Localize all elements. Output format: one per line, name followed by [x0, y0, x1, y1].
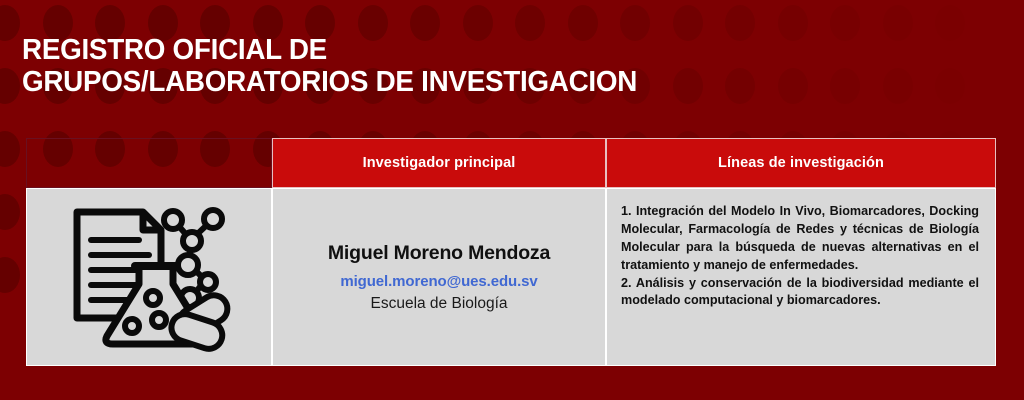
- decorative-dot: [935, 5, 965, 41]
- decorative-dot: [830, 5, 860, 41]
- table-cell-icon: [26, 188, 272, 366]
- decorative-dot: [883, 68, 913, 104]
- research-document-flask-molecule-pills-icon: [65, 202, 233, 352]
- table-row: Miguel Moreno Mendoza miguel.moreno@ues.…: [26, 188, 996, 366]
- table-cell-lineas: 1. Integración del Modelo In Vivo, Bioma…: [606, 188, 996, 366]
- decorative-dot: [0, 194, 20, 230]
- decorative-dot: [0, 257, 20, 293]
- researcher-name: Miguel Moreno Mendoza: [328, 242, 550, 265]
- table-cell-investigador: Miguel Moreno Mendoza miguel.moreno@ues.…: [272, 188, 606, 366]
- researcher-school: Escuela de Biología: [370, 295, 507, 313]
- decorative-dot: [0, 68, 20, 104]
- page-title: REGISTRO OFICIAL DE GRUPOS/LABORATORIOS …: [22, 34, 802, 99]
- research-line-item: 2. Análisis y conservación de la biodive…: [621, 275, 979, 311]
- researcher-email[interactable]: miguel.moreno@ues.edu.sv: [340, 273, 537, 290]
- decorative-dot: [883, 5, 913, 41]
- decorative-dot: [0, 131, 20, 167]
- decorative-dot: [830, 68, 860, 104]
- page-title-line-2: GRUPOS/LABORATORIOS DE INVESTIGACION: [22, 66, 771, 98]
- research-line-item: 1. Integración del Modelo In Vivo, Bioma…: [621, 203, 979, 275]
- decorative-dot: [0, 5, 20, 41]
- registry-table: Investigador principal Líneas de investi…: [26, 138, 996, 366]
- table-header-row: Investigador principal Líneas de investi…: [26, 138, 996, 188]
- decorative-dot: [935, 68, 965, 104]
- page-title-line-1: REGISTRO OFICIAL DE: [22, 34, 771, 66]
- table-header-cell-lineas: Líneas de investigación: [606, 138, 996, 188]
- poster-root: REGISTRO OFICIAL DE GRUPOS/LABORATORIOS …: [0, 0, 1024, 400]
- table-header-cell-investigador: Investigador principal: [272, 138, 606, 188]
- table-header-cell-blank: [26, 138, 272, 188]
